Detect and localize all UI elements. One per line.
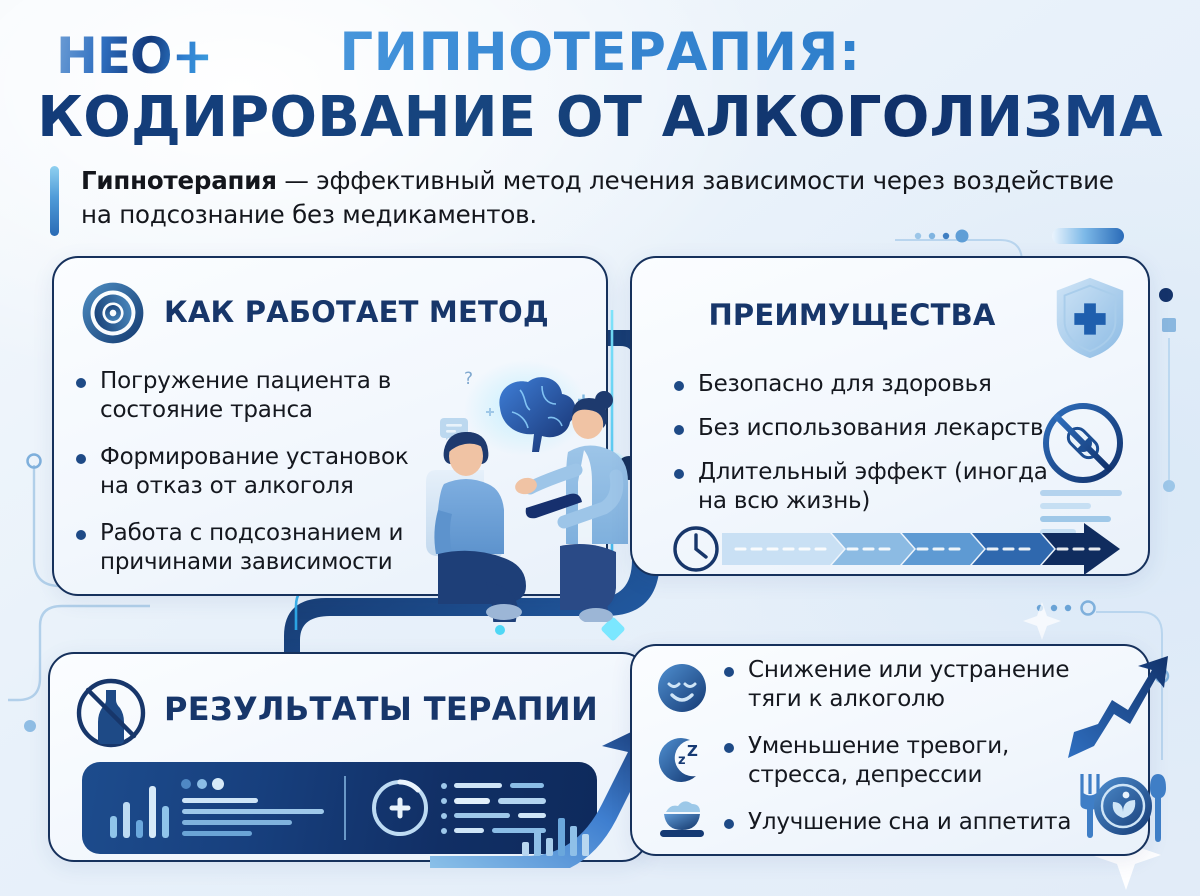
plus-circle-icon [374, 782, 426, 834]
poster-title: ГИПНОТЕРАПИЯ: КОДИРОВАНИЕ ОТ АЛКОГОЛИЗМА [0, 22, 1200, 150]
list-item: Погружение пациента в состояние транса [74, 367, 434, 425]
infographic-poster: НЕО+ ГИПНОТЕРАПИЯ: КОДИРОВАНИЕ ОТ АЛКОГО… [0, 0, 1200, 896]
advantages-card-title: ПРЕИМУЩЕСТВА [708, 298, 995, 332]
list-item: Улучшение сна и аппетита [722, 808, 1072, 837]
list-item: Работа с подсознанием и причинами зависи… [74, 519, 434, 577]
svg-text:z: z [678, 753, 686, 768]
timeline-arrow-icon [672, 523, 1132, 575]
food-bowl-icon [656, 796, 708, 848]
title-line-2: КОДИРОВАНИЕ ОТ АЛКОГОЛИЗМА [0, 85, 1200, 150]
moon-sleep-icon: z Z [656, 734, 708, 786]
healthy-food-plate-icon [1070, 770, 1176, 842]
method-card-title: КАК РАБОТАЕТ МЕТОД [164, 297, 549, 328]
calm-face-icon [656, 662, 708, 714]
growth-arrow-icon [1064, 654, 1172, 764]
advantages-bullet-list: Безопасно для здоровья Без использования… [672, 370, 1072, 531]
svg-text:Z: Z [687, 742, 698, 760]
list-item: Уменьшение тревоги, стресса, депрессии [722, 732, 1072, 790]
intro-bold-term: Гипнотерапия [81, 166, 277, 195]
mini-bar-chart-icon [520, 812, 598, 856]
list-item: Снижение или устранение тяги к алкоголю [722, 656, 1072, 714]
bar-chart-icon [110, 786, 169, 838]
intro-block: Гипнотерапия — эффективный метод лечения… [50, 164, 1130, 236]
list-lines-icon [181, 778, 324, 836]
intro-accent-bar [50, 166, 59, 236]
list-item: Длительный эффект (иногда на всю жизнь) [672, 458, 1072, 516]
intro-text: Гипнотерапия — эффективный метод лечения… [81, 164, 1130, 232]
effects-bullet-list: Снижение или устранение тяги к алкоголю … [722, 656, 1072, 855]
no-alcohol-bottle-icon [74, 676, 148, 750]
title-line-1: ГИПНОТЕРАПИЯ: [0, 22, 1200, 83]
shield-plus-icon [1050, 274, 1130, 362]
method-bullet-list: Погружение пациента в состояние транса Ф… [74, 367, 434, 595]
method-card-header: КАК РАБОТАЕТ МЕТОД [54, 258, 606, 346]
spiral-hypnosis-icon [80, 280, 146, 346]
list-item: Формирование установок на отказ от алког… [74, 443, 434, 501]
list-item: Без использования лекарств [672, 414, 1072, 443]
list-item: Безопасно для здоровья [672, 370, 1072, 399]
poster-header: НЕО+ ГИПНОТЕРАПИЯ: КОДИРОВАНИЕ ОТ АЛКОГО… [0, 0, 1200, 250]
